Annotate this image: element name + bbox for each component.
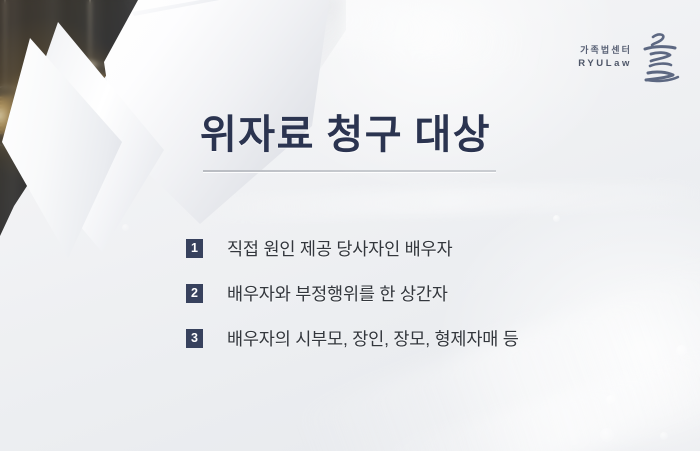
list-item-number-badge: 3 bbox=[186, 329, 203, 348]
list-item: 3 배우자의 시부모, 장인, 장모, 형제자매 등 bbox=[186, 326, 519, 351]
list-item-label: 배우자의 시부모, 장인, 장모, 형제자매 등 bbox=[227, 326, 519, 351]
list-item-label: 배우자와 부정행위를 한 상간자 bbox=[227, 281, 448, 306]
brand-english-name: RYULaw bbox=[578, 58, 632, 70]
brand-logo[interactable]: 가족법센터 RYULaw bbox=[578, 30, 680, 86]
title-divider bbox=[203, 170, 496, 172]
target-list: 1 직접 원인 제공 당사자인 배우자 2 배우자와 부정행위를 한 상간자 3… bbox=[186, 236, 519, 351]
list-item-label: 직접 원인 제공 당사자인 배우자 bbox=[227, 236, 452, 261]
page-title: 위자료 청구 대상 bbox=[200, 102, 491, 160]
brand-logo-text: 가족법센터 RYULaw bbox=[578, 45, 632, 72]
list-item-number-badge: 2 bbox=[186, 284, 203, 303]
list-item: 1 직접 원인 제공 당사자인 배우자 bbox=[186, 236, 519, 261]
brand-korean-name: 가족법센터 bbox=[578, 45, 632, 56]
list-item: 2 배우자와 부정행위를 한 상간자 bbox=[186, 281, 519, 306]
slide-canvas: 가족법센터 RYULaw 위자료 청구 대상 1 직접 원인 제공 당사자인 배… bbox=[0, 0, 700, 451]
list-item-number-badge: 1 bbox=[186, 239, 203, 258]
ryulaw-brush-mark-icon bbox=[640, 30, 680, 86]
